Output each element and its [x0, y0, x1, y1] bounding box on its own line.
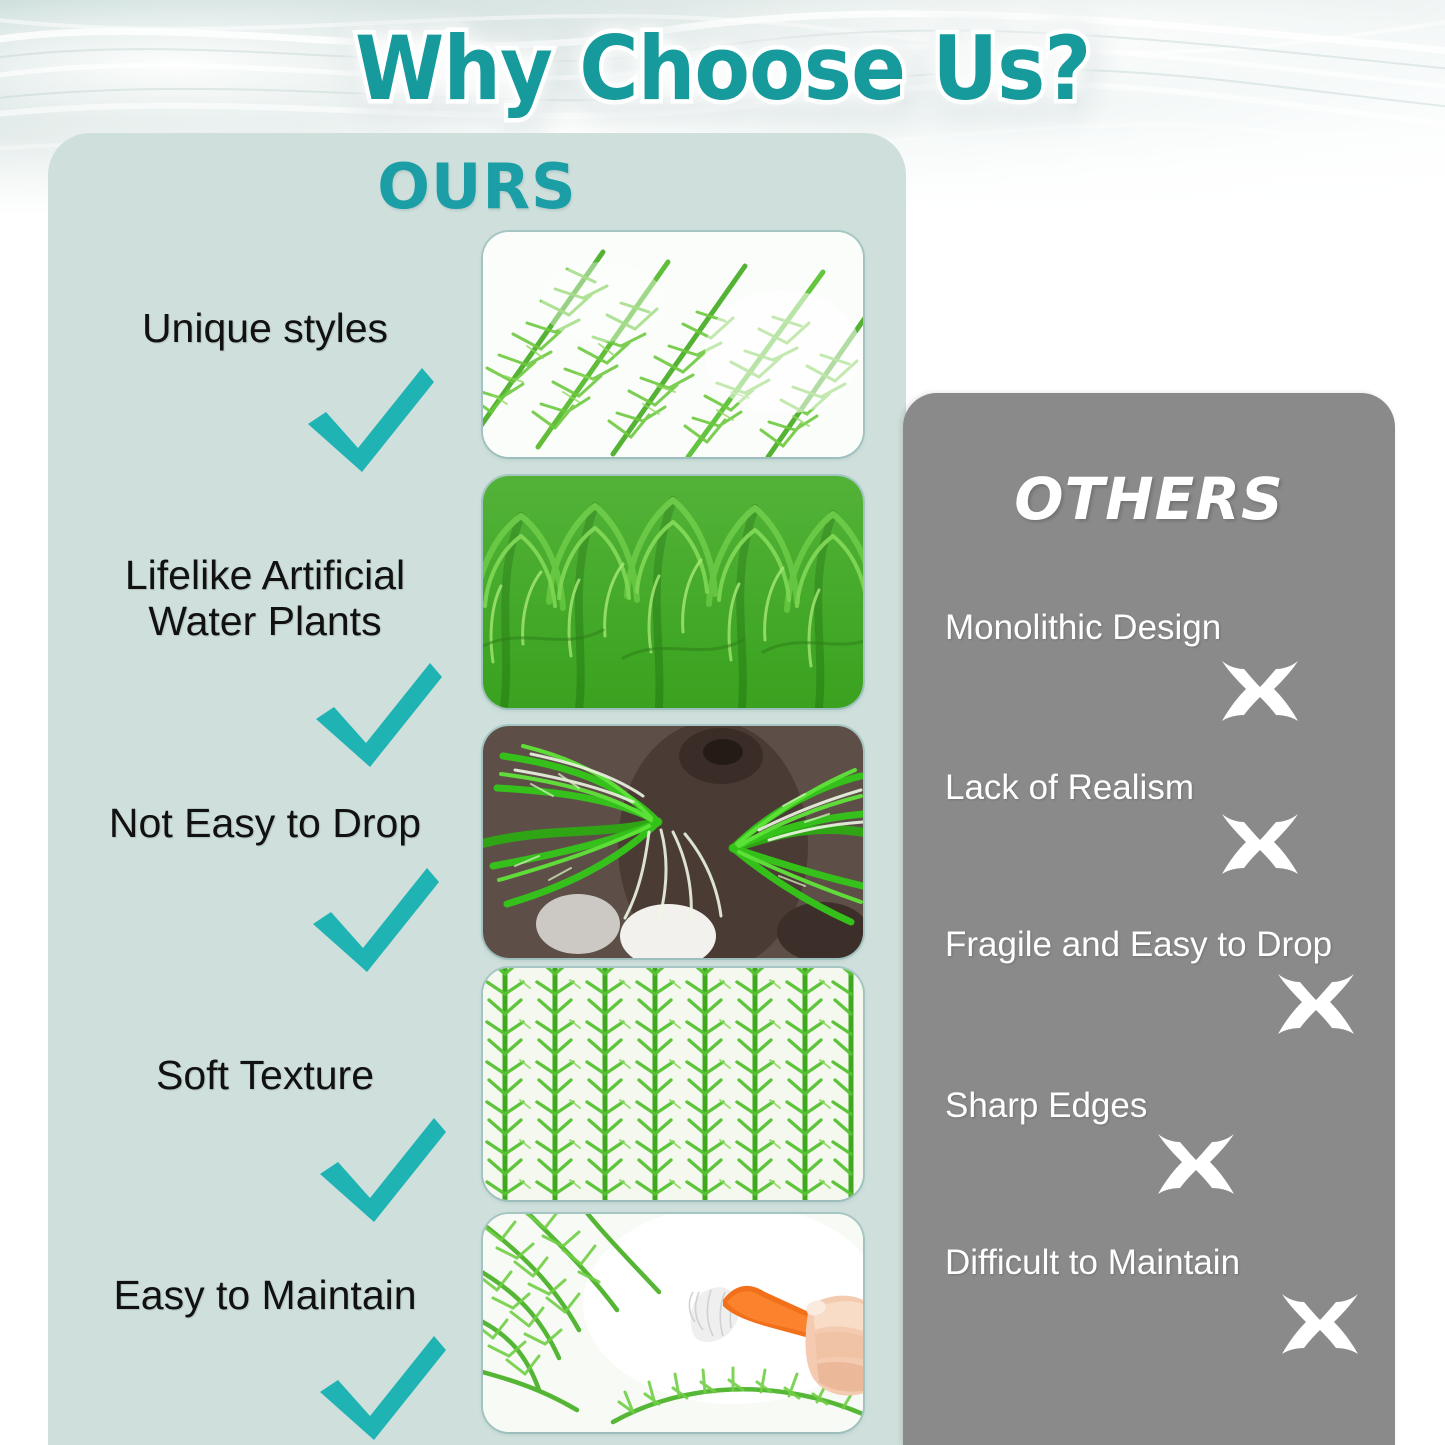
close-up-green-plastic-fronds-image: [483, 476, 863, 708]
others-heading: OTHERS: [903, 465, 1395, 533]
others-item-label-3: Fragile and Easy to Drop: [945, 925, 1332, 964]
ours-item-label-2: Lifelike Artificial Water Plants: [60, 552, 470, 645]
ours-item-label-5: Easy to Maintain: [60, 1272, 470, 1318]
page-title: Why Choose Us?: [0, 8, 1445, 128]
cross-icon: [1268, 968, 1364, 1060]
others-item-label-1: Monolithic Design: [945, 608, 1221, 647]
ours-item-photo-3: [483, 726, 863, 958]
ours-heading: OURS: [48, 150, 906, 223]
ours-item-label-3: Not Easy to Drop: [60, 800, 470, 846]
check-icon: [305, 860, 445, 980]
others-item-label-4: Sharp Edges: [945, 1086, 1147, 1125]
check-icon: [308, 655, 448, 775]
cross-icon: [1148, 1128, 1244, 1220]
others-item-label-2: Lack of Realism: [945, 768, 1194, 807]
check-icon: [312, 1328, 452, 1445]
cross-icon: [1212, 808, 1308, 900]
hand-brushing-plants-with-orange-brush-image: [483, 1214, 863, 1432]
green-aquarium-plant-stems-on-white-image: [483, 232, 863, 457]
ours-item-photo-4: [483, 968, 863, 1200]
check-icon: [312, 1110, 452, 1230]
ours-item-label-1: Unique styles: [70, 305, 460, 351]
check-icon: [300, 360, 440, 480]
rows-of-vertical-plant-stems-image: [483, 968, 863, 1200]
page-title-text: Why Choose Us?: [355, 17, 1090, 120]
cross-icon: [1272, 1288, 1368, 1380]
infographic-canvas: Why Choose Us? OURS Unique styles: [0, 0, 1445, 1445]
cross-icon: [1212, 655, 1308, 747]
ours-item-photo-1: [483, 232, 863, 457]
others-item-label-5: Difficult to Maintain: [945, 1243, 1240, 1282]
ours-item-label-4: Soft Texture: [60, 1052, 470, 1098]
ours-item-photo-2: [483, 476, 863, 708]
ours-item-photo-5: [483, 1214, 863, 1432]
green-plants-on-dark-rock-base-image: [483, 726, 863, 958]
